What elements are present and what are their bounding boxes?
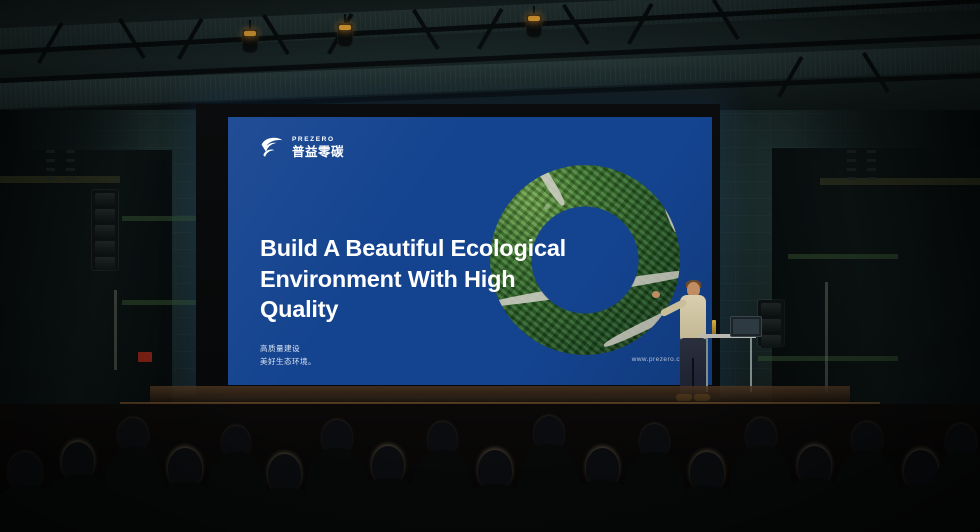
subtitle-line-2: 美好生态环境。 — [260, 356, 316, 369]
left-ledge — [0, 176, 120, 183]
slide-subtitle-chinese: 高质量建设 美好生态环境。 — [260, 343, 316, 368]
green-rail — [788, 254, 898, 259]
ceiling-truss-area — [0, 0, 980, 110]
left-truss-mast — [46, 150, 55, 180]
slide-headline: Build A Beautiful Ecological Environment… — [260, 233, 590, 325]
stage-left-structure — [0, 150, 172, 425]
stage-light — [242, 29, 258, 53]
presenter-hand — [652, 291, 660, 298]
line-array-speaker — [92, 190, 118, 270]
fire-equipment-sign — [138, 352, 152, 362]
logo-english-name: PREZERO — [292, 137, 344, 144]
right-truss-mast — [847, 148, 856, 180]
stage-right-structure — [772, 148, 980, 426]
audience-shoulders — [356, 478, 420, 532]
stage-light — [526, 14, 542, 38]
drink-bottle — [712, 320, 716, 335]
green-rail — [122, 300, 198, 305]
audience-shoulders — [48, 474, 110, 532]
forest-road — [523, 165, 568, 208]
left-truss-mast — [66, 150, 75, 180]
ceiling-deck-lower — [0, 44, 980, 110]
conference-stage-photo: PREZERO 普益零碳 Build A Beautiful Ecologica… — [0, 0, 980, 532]
green-rail — [758, 356, 898, 361]
slide-logo: PREZERO 普益零碳 — [258, 133, 344, 162]
laptop — [730, 316, 762, 337]
stage-light — [337, 23, 353, 47]
right-truss-mast — [867, 148, 876, 180]
audience-shoulders — [934, 452, 980, 532]
table-leg — [750, 338, 752, 392]
right-ledge — [820, 178, 980, 185]
presentation-screen: PREZERO 普益零碳 Build A Beautiful Ecologica… — [228, 117, 712, 385]
table-leg — [706, 338, 708, 392]
right-pole — [825, 282, 828, 392]
logo-wordmark: PREZERO 普益零碳 — [292, 137, 344, 158]
audience — [0, 400, 980, 532]
prezero-swirl-icon — [258, 133, 287, 162]
green-rail — [122, 216, 198, 221]
logo-chinese-name: 普益零碳 — [292, 146, 344, 159]
mic-stand-pole — [114, 290, 117, 370]
forest-road — [646, 165, 680, 233]
subtitle-line-1: 高质量建设 — [260, 343, 316, 356]
